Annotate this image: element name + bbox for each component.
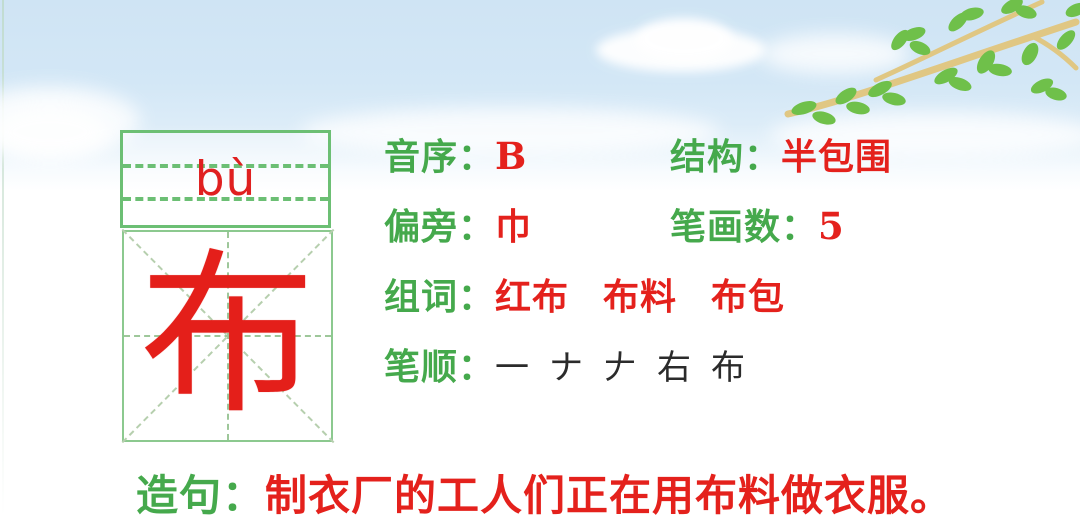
label-stroke-order: 笔顺： bbox=[384, 338, 495, 390]
field-stroke-order: 笔顺： 一ナ𠂇右布 bbox=[384, 338, 745, 390]
info-panel: 音序： B 结构： 半包围 偏旁： 巾 笔画数： 5 组词： 红布布料布包 bbox=[384, 128, 1004, 408]
value-pinyin-order: B bbox=[495, 134, 527, 178]
field-radical: 偏旁： 巾 bbox=[384, 198, 532, 250]
info-row-words: 组词： 红布布料布包 bbox=[384, 268, 1004, 338]
label-example-sentence: 造句： bbox=[136, 462, 265, 516]
field-pinyin-order: 音序： B bbox=[384, 128, 527, 180]
example-sentence-row: 造句： 制衣厂的工人们正在用布料做衣服。 bbox=[136, 462, 953, 516]
label-radical: 偏旁： bbox=[384, 198, 495, 250]
stroke-order-list: 一ナ𠂇右布 bbox=[495, 340, 745, 389]
leafy-branch-icon bbox=[780, 0, 1080, 131]
word-item: 布包 bbox=[711, 268, 785, 320]
left-edge-rule bbox=[2, 0, 4, 516]
info-row-radical: 偏旁： 巾 笔画数： 5 bbox=[384, 198, 1004, 268]
stroke-step: ナ bbox=[549, 340, 583, 389]
field-words: 组词： 红布布料布包 bbox=[384, 268, 785, 320]
info-row-stroke-order: 笔顺： 一ナ𠂇右布 bbox=[384, 338, 1004, 408]
label-structure: 结构： bbox=[670, 128, 781, 180]
word-item: 布料 bbox=[603, 268, 677, 320]
stroke-step: 一 bbox=[495, 340, 529, 389]
character-glyph: 布 bbox=[124, 232, 331, 440]
stroke-step: 𠂇 bbox=[603, 340, 637, 389]
pinyin-text: bù bbox=[123, 133, 328, 225]
pinyin-box: bù bbox=[120, 130, 331, 228]
cloud-top-center-puff bbox=[636, 18, 732, 60]
field-stroke-count: 笔画数： 5 bbox=[670, 198, 845, 250]
stroke-step: 右 bbox=[657, 340, 691, 389]
label-stroke-count: 笔画数： bbox=[670, 198, 818, 250]
character-grid-box: 布 bbox=[122, 230, 333, 442]
value-example-sentence: 制衣厂的工人们正在用布料做衣服。 bbox=[265, 462, 953, 516]
field-structure: 结构： 半包围 bbox=[670, 128, 892, 180]
flashcard-page: bù 布 音序： B 结构： 半包围 偏旁： 巾 笔画数： bbox=[0, 0, 1080, 516]
stroke-step: 布 bbox=[711, 340, 745, 389]
label-words: 组词： bbox=[384, 268, 495, 320]
value-words: 红布布料布包 bbox=[495, 268, 785, 320]
value-radical: 巾 bbox=[495, 198, 532, 250]
info-row-pinyin-order: 音序： B 结构： 半包围 bbox=[384, 128, 1004, 198]
value-structure: 半包围 bbox=[781, 128, 892, 180]
leafy-branch-decoration bbox=[780, 0, 1080, 131]
value-stroke-count: 5 bbox=[818, 204, 845, 248]
label-pinyin-order: 音序： bbox=[384, 128, 495, 180]
word-item: 红布 bbox=[495, 268, 569, 320]
